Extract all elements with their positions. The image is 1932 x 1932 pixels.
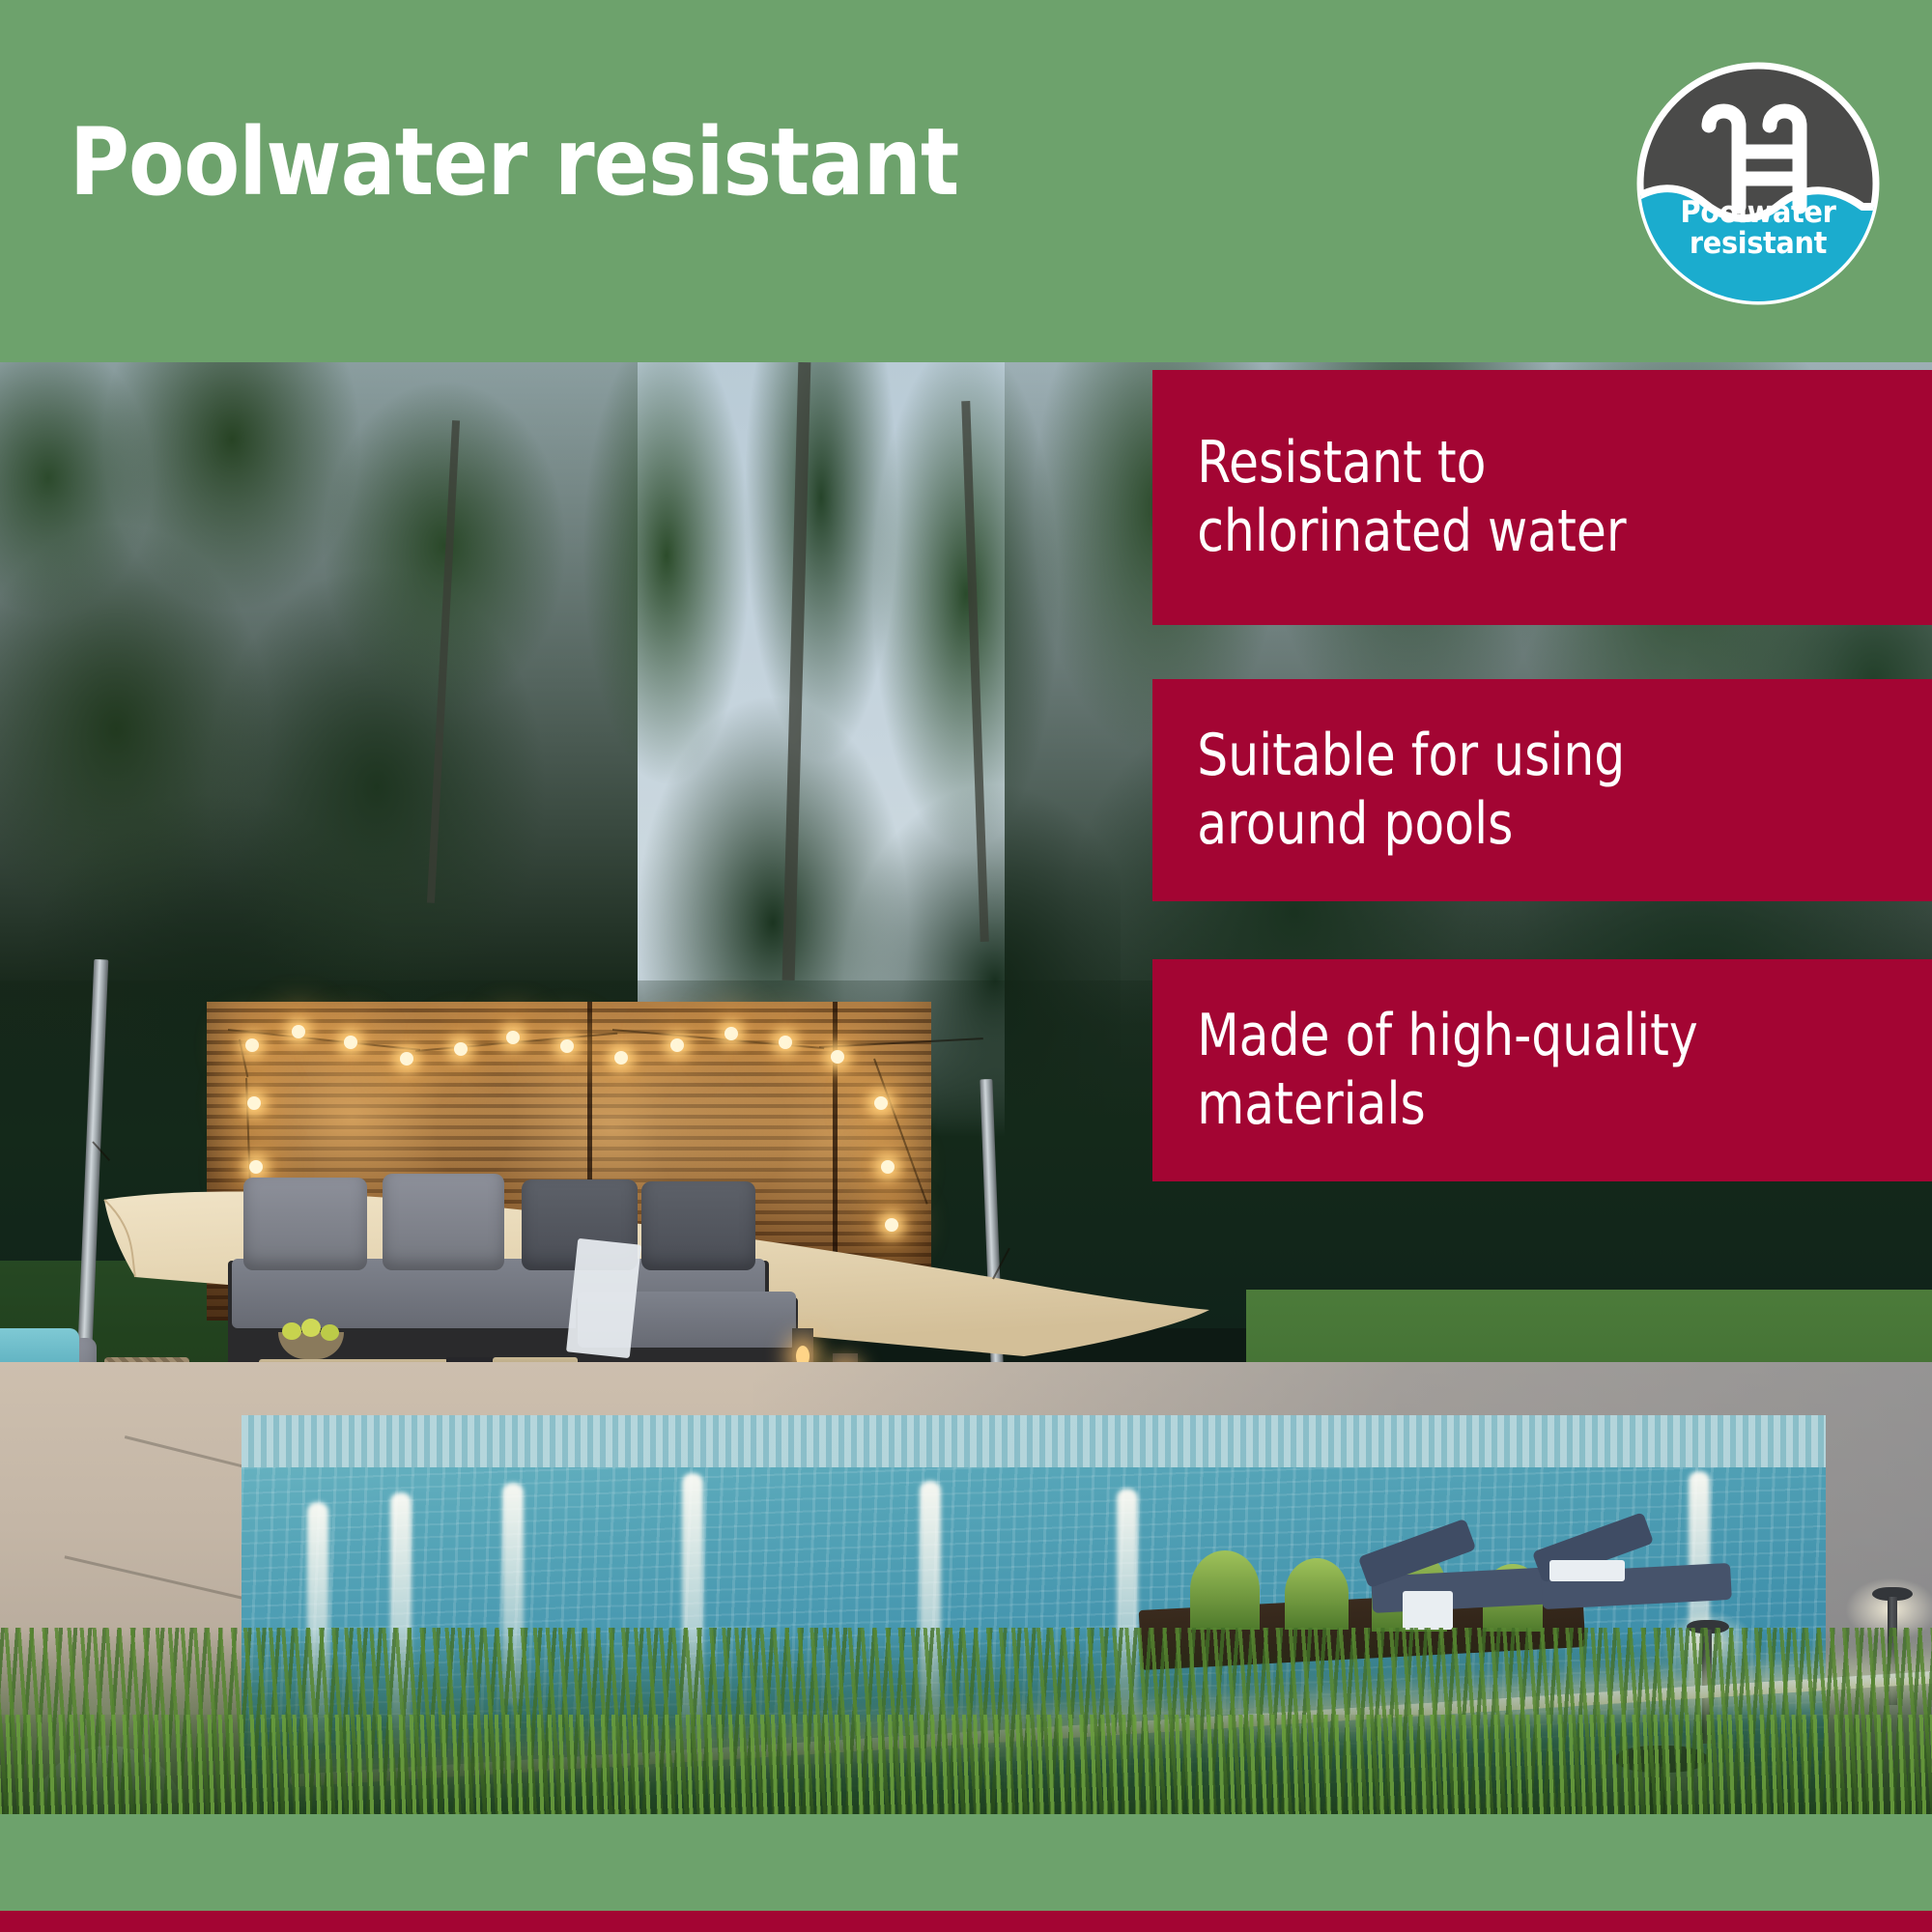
feature-box: Resistant to chlorinated water — [1152, 370, 1932, 625]
string-light-bulb — [400, 1052, 413, 1065]
string-light-bulb — [292, 1025, 305, 1038]
ornamental-grass — [1190, 1550, 1260, 1630]
feature-box: Suitable for using around pools — [1152, 679, 1932, 901]
foreground-grass — [0, 1715, 1932, 1814]
sofa-cushion — [641, 1181, 755, 1270]
feature-box: Made of high-quality materials — [1152, 959, 1932, 1181]
sofa-cushion — [243, 1178, 367, 1270]
sofa-cushion — [383, 1174, 504, 1270]
fruit — [301, 1319, 321, 1337]
string-light-bulb — [779, 1036, 792, 1049]
string-light-bulb — [247, 1096, 261, 1110]
string-light-bulb — [724, 1027, 738, 1040]
pool-ladder-icon — [1634, 60, 1882, 307]
feature-text: Suitable for using around pools — [1152, 722, 1625, 859]
string-light-bulb — [454, 1042, 468, 1056]
string-light-bulb — [874, 1096, 888, 1110]
poster-root: Poolwater resistant Po — [0, 0, 1932, 1932]
string-light-bulb — [614, 1051, 628, 1065]
pool-tile-band — [241, 1415, 1826, 1467]
poolwater-resistant-badge: Poolwater resistant — [1634, 60, 1882, 307]
lounger-towel — [1549, 1560, 1625, 1581]
string-light-bulb — [245, 1038, 259, 1052]
header-band: Poolwater resistant Po — [0, 0, 1932, 362]
page-title: Poolwater resistant — [70, 116, 958, 209]
fruit — [282, 1322, 301, 1340]
fruit — [321, 1324, 339, 1341]
ornamental-grass — [1285, 1558, 1349, 1630]
string-light-bulb — [344, 1036, 357, 1049]
lounger-towel — [1403, 1591, 1453, 1630]
string-light-bulb — [560, 1039, 574, 1053]
string-light-bulb — [831, 1050, 844, 1064]
footer-red-band — [0, 1911, 1932, 1932]
feature-text: Made of high-quality materials — [1152, 1002, 1698, 1139]
string-light-bulb — [506, 1031, 520, 1044]
feature-text: Resistant to chlorinated water — [1152, 429, 1627, 566]
draped-throw — [566, 1238, 641, 1358]
string-light-bulb — [670, 1038, 684, 1052]
footer-green-band — [0, 1814, 1932, 1911]
